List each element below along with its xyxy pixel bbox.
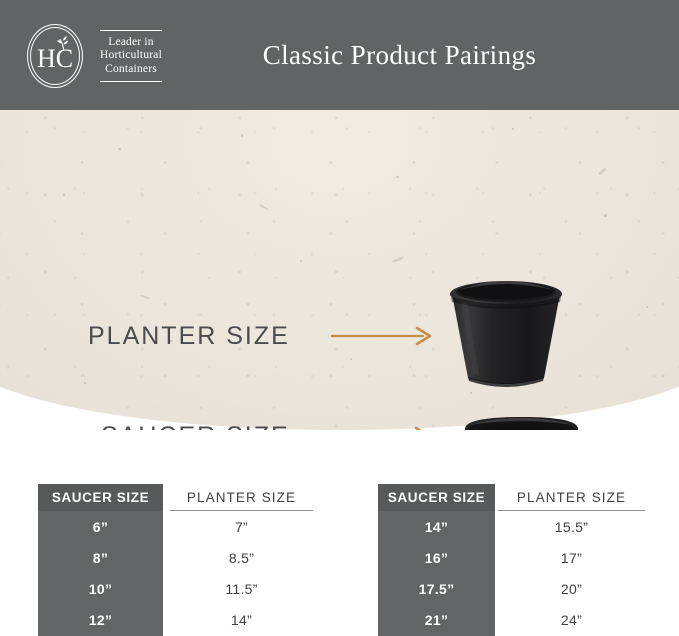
size-table-left: SAUCER SIZE PLANTER SIZE 6” 8” 10” 12” 7… <box>38 484 313 636</box>
planter-size-column: 15.5” 17” 20” 24” <box>498 511 645 636</box>
table-header-row: SAUCER SIZE PLANTER SIZE <box>378 484 645 511</box>
table-cell: 12” <box>38 605 163 636</box>
table-cell: 14” <box>170 605 313 636</box>
saucer-illustration <box>463 416 580 430</box>
table-header-row: SAUCER SIZE PLANTER SIZE <box>38 484 313 511</box>
table-cell: 6” <box>38 511 163 542</box>
column-header-planter-size: PLANTER SIZE <box>498 484 645 511</box>
texture-speck <box>84 382 86 384</box>
table-cell: 17.5” <box>378 574 495 605</box>
page-title: Classic Product Pairings <box>0 0 679 110</box>
column-header-planter-size: PLANTER SIZE <box>170 484 313 511</box>
texture-speck <box>300 260 302 262</box>
table-body: 14” 16” 17.5” 21” 15.5” 17” 20” 24” <box>378 511 645 636</box>
table-cell: 24” <box>498 605 645 636</box>
table-cell: 8.5” <box>170 542 313 573</box>
arrow-right-icon <box>330 425 434 430</box>
saucer-size-label: SAUCER SIZE <box>101 422 290 430</box>
planter-illustration <box>443 278 569 398</box>
diagram-panel: PLANTER SIZE SAUCER SIZE <box>0 110 679 430</box>
size-table-right: SAUCER SIZE PLANTER SIZE 14” 16” 17.5” 2… <box>378 484 645 636</box>
table-cell: 17” <box>498 542 645 573</box>
texture-speck <box>512 128 514 130</box>
table-cell: 8” <box>38 542 163 573</box>
header-bar: HC Leader in Horticultural Containers Cl… <box>0 0 679 110</box>
table-cell: 16” <box>378 542 495 573</box>
table-cell: 7” <box>170 511 313 542</box>
saucer-size-column: 14” 16” 17.5” 21” <box>378 511 495 636</box>
column-header-saucer-size: SAUCER SIZE <box>378 484 495 511</box>
table-body: 6” 8” 10” 12” 7” 8.5” 11.5” 14” <box>38 511 313 636</box>
planter-size-label: PLANTER SIZE <box>88 322 290 351</box>
texture-speck <box>118 148 121 150</box>
saucer-size-column: 6” 8” 10” 12” <box>38 511 163 636</box>
table-cell: 21” <box>378 605 495 636</box>
table-cell: 15.5” <box>498 511 645 542</box>
table-cell: 20” <box>498 574 645 605</box>
table-cell: 10” <box>38 574 163 605</box>
texture-speck <box>604 214 607 217</box>
texture-speck <box>350 358 352 360</box>
panel-texture-background <box>0 110 679 430</box>
arrow-right-icon <box>331 325 435 347</box>
texture-speck <box>63 194 65 196</box>
table-cell: 14” <box>378 511 495 542</box>
table-cell: 11.5” <box>170 574 313 605</box>
column-header-saucer-size: SAUCER SIZE <box>38 484 163 511</box>
infographic-page: HC Leader in Horticultural Containers Cl… <box>0 0 679 636</box>
texture-speck <box>241 134 243 137</box>
texture-speck <box>646 306 648 308</box>
planter-size-column: 7” 8.5” 11.5” 14” <box>170 511 313 636</box>
texture-speck <box>396 176 399 178</box>
